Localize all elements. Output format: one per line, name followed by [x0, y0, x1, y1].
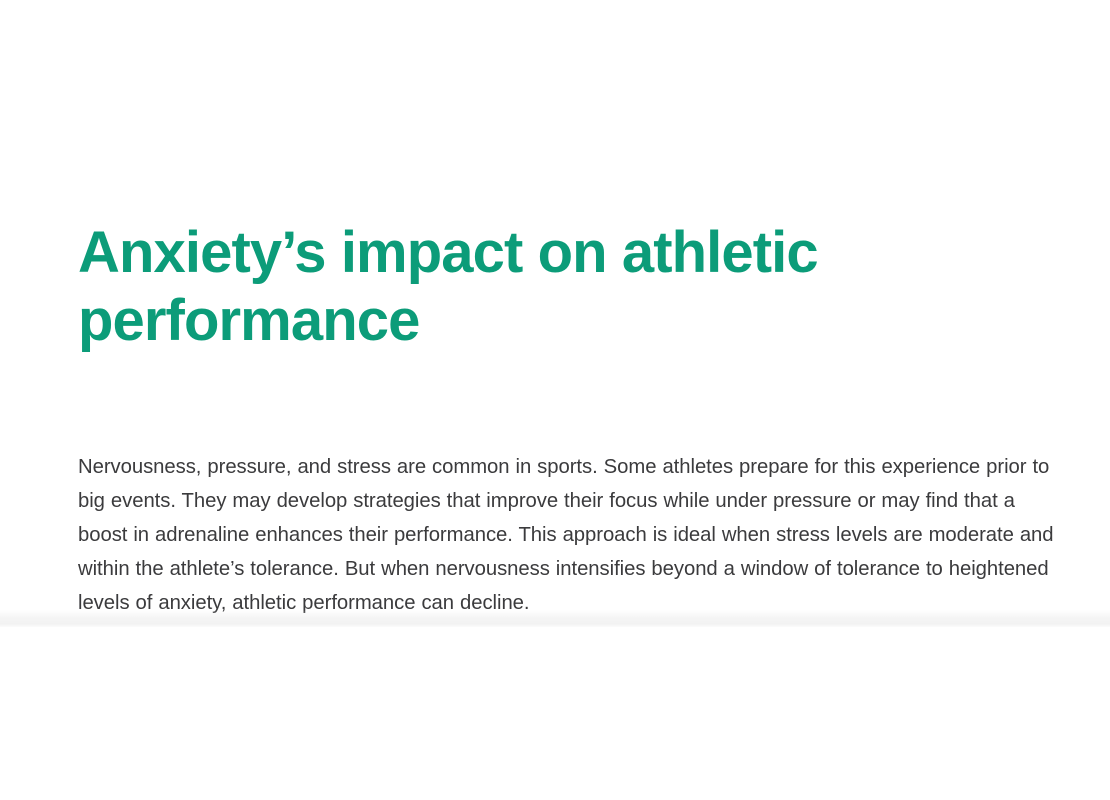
page-lower-blank-area: [0, 627, 1110, 800]
article-page: Anxiety’s impact on athletic performance…: [0, 0, 1110, 800]
page-title: Anxiety’s impact on athletic performance: [78, 219, 868, 355]
article-content-region[interactable]: Anxiety’s impact on athletic performance…: [0, 0, 1110, 613]
article-body-paragraph: Nervousness, pressure, and stress are co…: [78, 450, 1054, 613]
